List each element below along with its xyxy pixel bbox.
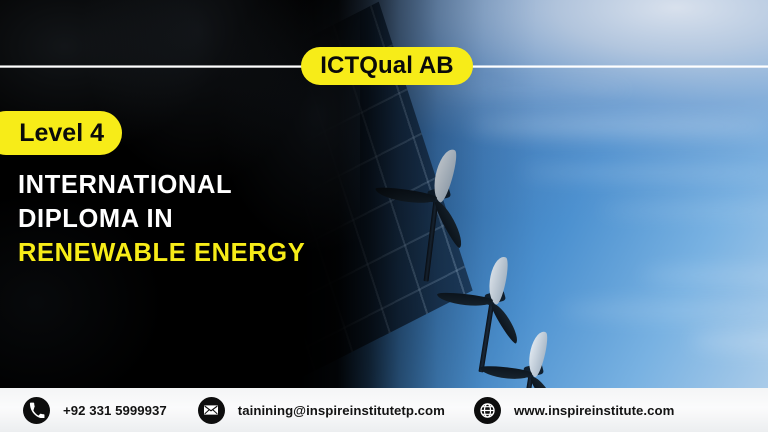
course-title-line-3: RENEWABLE ENERGY (18, 236, 358, 270)
website-url: www.inspireinstitute.com (514, 403, 674, 418)
promo-banner: ICTQual AB Level 4 INTERNATIONAL DIPLOMA… (0, 0, 768, 432)
brand-badge-label: ICTQual AB (320, 52, 453, 80)
envelope-icon (198, 397, 225, 424)
phone-icon (23, 397, 50, 424)
email-address: tainining@inspireinstitutetp.com (238, 403, 445, 418)
contact-website[interactable]: www.inspireinstitute.com (474, 388, 674, 432)
level-badge: Level 4 (0, 111, 122, 155)
course-title: INTERNATIONAL DIPLOMA IN RENEWABLE ENERG… (18, 168, 358, 270)
contact-phone[interactable]: +92 331 5999937 (23, 388, 167, 432)
course-title-line-2: DIPLOMA IN (18, 202, 358, 236)
contact-footer: +92 331 5999937 tainining@inspireinstitu… (0, 388, 768, 432)
brand-badge: ICTQual AB (301, 47, 473, 85)
course-title-line-1: INTERNATIONAL (18, 168, 358, 202)
contact-email[interactable]: tainining@inspireinstitutetp.com (198, 388, 445, 432)
globe-icon (474, 397, 501, 424)
phone-number: +92 331 5999937 (63, 403, 167, 418)
level-badge-label: Level 4 (19, 119, 104, 148)
